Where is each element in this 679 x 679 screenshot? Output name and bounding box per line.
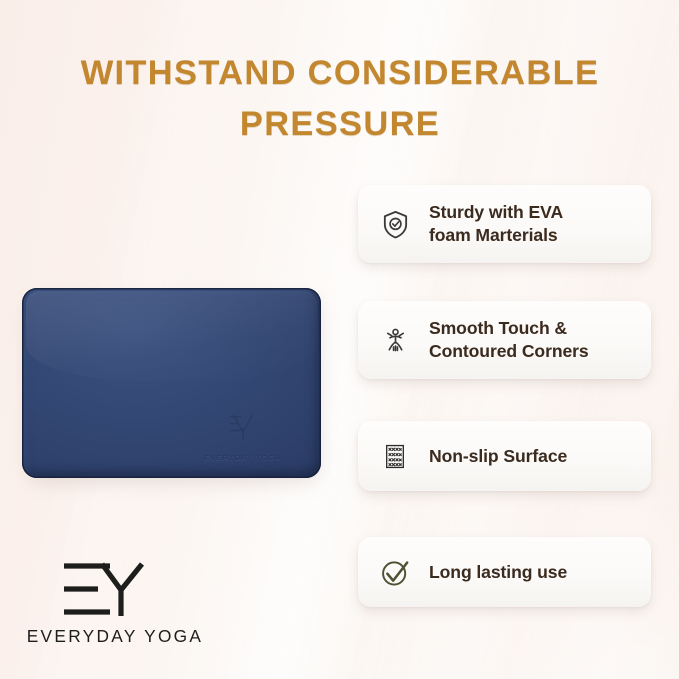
ey-monogram-icon bbox=[58, 558, 154, 620]
feature-label: Sturdy with EVA foam Marterials bbox=[429, 201, 563, 247]
feature-label: Smooth Touch & Contoured Corners bbox=[429, 317, 589, 363]
brand-logo: EVERYDAY YOGA bbox=[20, 558, 210, 658]
feature-label: Non-slip Surface bbox=[429, 445, 567, 468]
feature-card[interactable]: Non-slip Surface bbox=[358, 421, 651, 491]
brand-wordmark: EVERYDAY YOGA bbox=[20, 626, 210, 647]
yoga-block-embossed-logo: EVERYDAY YOGA bbox=[188, 410, 298, 462]
feature-card[interactable]: Long lasting use bbox=[358, 537, 651, 607]
feature-card[interactable]: Smooth Touch & Contoured Corners bbox=[358, 301, 651, 379]
circled-check-icon bbox=[378, 555, 412, 589]
textured-surface-icon bbox=[378, 439, 412, 473]
vitruvian-figure-icon bbox=[378, 323, 412, 357]
feature-label: Long lasting use bbox=[429, 561, 567, 584]
product-image: EVERYDAY YOGA bbox=[22, 288, 324, 483]
yoga-block-highlight bbox=[26, 291, 317, 381]
yoga-block-body: EVERYDAY YOGA bbox=[22, 288, 321, 478]
yoga-block-emboss-text: EVERYDAY YOGA bbox=[188, 453, 298, 462]
shield-check-icon bbox=[378, 207, 412, 241]
headline-text: WITHSTAND CONSIDERABLE PRESSURE bbox=[50, 48, 630, 150]
feature-card[interactable]: Sturdy with EVA foam Marterials bbox=[358, 185, 651, 263]
promo-graphic: WITHSTAND CONSIDERABLE PRESSURE EVERYDAY… bbox=[0, 0, 679, 679]
